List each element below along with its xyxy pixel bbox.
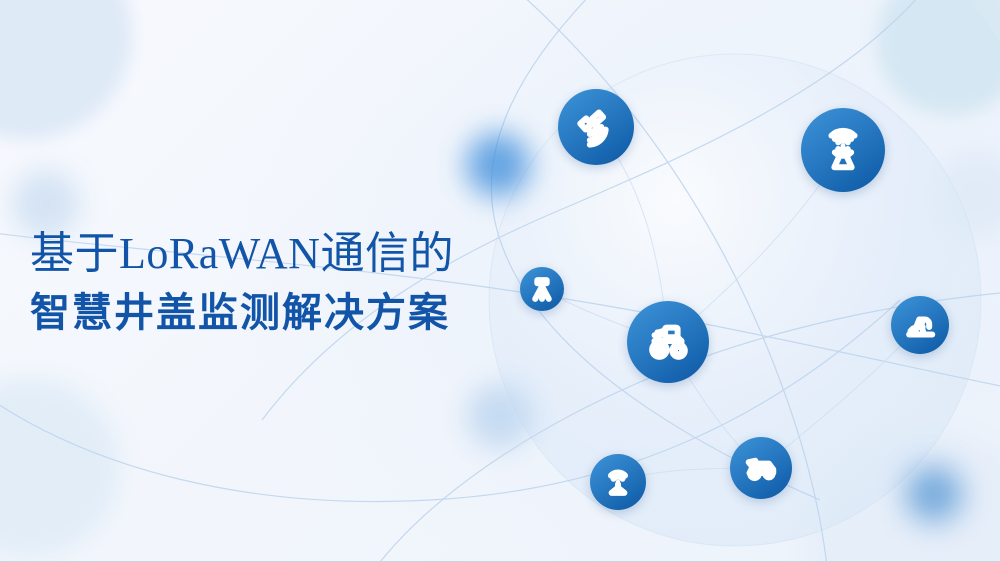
node-radio-tower[interactable] [801, 108, 885, 192]
wireless-sensor-icon [602, 466, 634, 498]
page-title: 基于LoRaWAN通信的 智慧井盖监测解决方案 [30, 226, 550, 344]
node-harvester[interactable] [730, 437, 792, 499]
harvester-icon [743, 450, 779, 486]
slide-canvas: 基于LoRaWAN通信的 智慧井盖监测解决方案 [0, 0, 1000, 562]
satellite-signal-icon [574, 105, 618, 149]
node-tractor[interactable] [627, 301, 709, 383]
radio-tower-icon [819, 126, 867, 174]
node-wireless-sensor[interactable] [590, 454, 646, 510]
title-line-1: 基于LoRaWAN通信的 [30, 226, 550, 282]
node-oil-pumpjack[interactable] [891, 296, 949, 354]
title-line-2: 智慧井盖监测解决方案 [30, 282, 550, 344]
tractor-icon [644, 318, 692, 366]
oil-pumpjack-icon [903, 308, 937, 342]
node-satellite[interactable] [558, 89, 634, 165]
